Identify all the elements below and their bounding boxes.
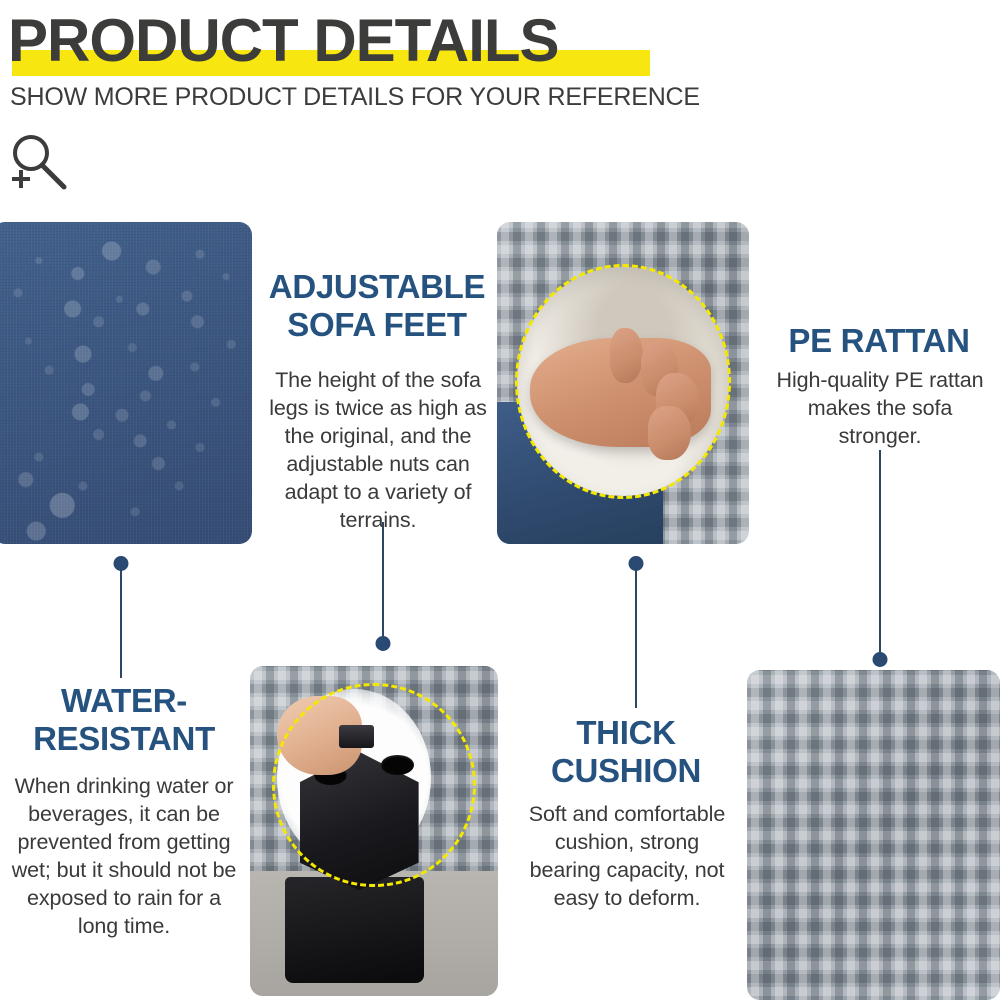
adjustable-sofa-feet-image <box>250 666 498 996</box>
feature-body-pe-rattan: High-quality PE rattan makes the sofa st… <box>772 366 988 450</box>
page-title: PRODUCT DETAILS <box>8 8 559 74</box>
magnifier-plus-icon <box>8 132 72 194</box>
feature-heading-adjustable-sofa-feet: ADJUSTABLE SOFA FEET <box>258 268 496 344</box>
connector-dot <box>375 636 390 651</box>
feature-heading-water-resistant: WATER-RESISTANT <box>6 682 242 758</box>
thick-cushion-image <box>497 222 749 544</box>
product-details-infographic: PRODUCT DETAILS SHOW MORE PRODUCT DETAIL… <box>0 0 1000 1000</box>
adjustable-bolt <box>339 725 374 748</box>
connector-line <box>120 568 122 678</box>
feature-heading-thick-cushion: THICK CUSHION <box>512 714 740 790</box>
finger <box>610 328 643 383</box>
water-resistant-fabric-image <box>0 222 252 544</box>
sofa-foot-base <box>285 877 424 983</box>
cushion-scene <box>497 222 749 544</box>
header-title-group: PRODUCT DETAILS <box>8 8 708 76</box>
bolt-hole <box>381 755 413 775</box>
connector-line <box>382 522 384 642</box>
page-subtitle: SHOW MORE PRODUCT DETAILS FOR YOUR REFER… <box>10 82 700 112</box>
feature-body-water-resistant: When drinking water or beverages, it can… <box>8 772 240 940</box>
sofa-feet-scene <box>250 666 498 996</box>
connector-pe-rattan <box>872 450 887 668</box>
connector-line <box>635 568 637 708</box>
connector-sofa-feet <box>375 522 390 652</box>
connector-thick-cushion <box>628 556 643 708</box>
feature-heading-pe-rattan: PE RATTAN <box>762 322 996 360</box>
connector-dot <box>872 652 887 667</box>
finger <box>648 406 691 461</box>
connector-water-resistant <box>113 556 128 678</box>
connector-line <box>879 450 881 658</box>
feature-body-adjustable-sofa-feet: The height of the sofa legs is twice as … <box>262 366 494 534</box>
feature-body-thick-cushion: Soft and comfortable cushion, strong bea… <box>520 800 734 912</box>
pe-rattan-image <box>747 670 1000 1000</box>
